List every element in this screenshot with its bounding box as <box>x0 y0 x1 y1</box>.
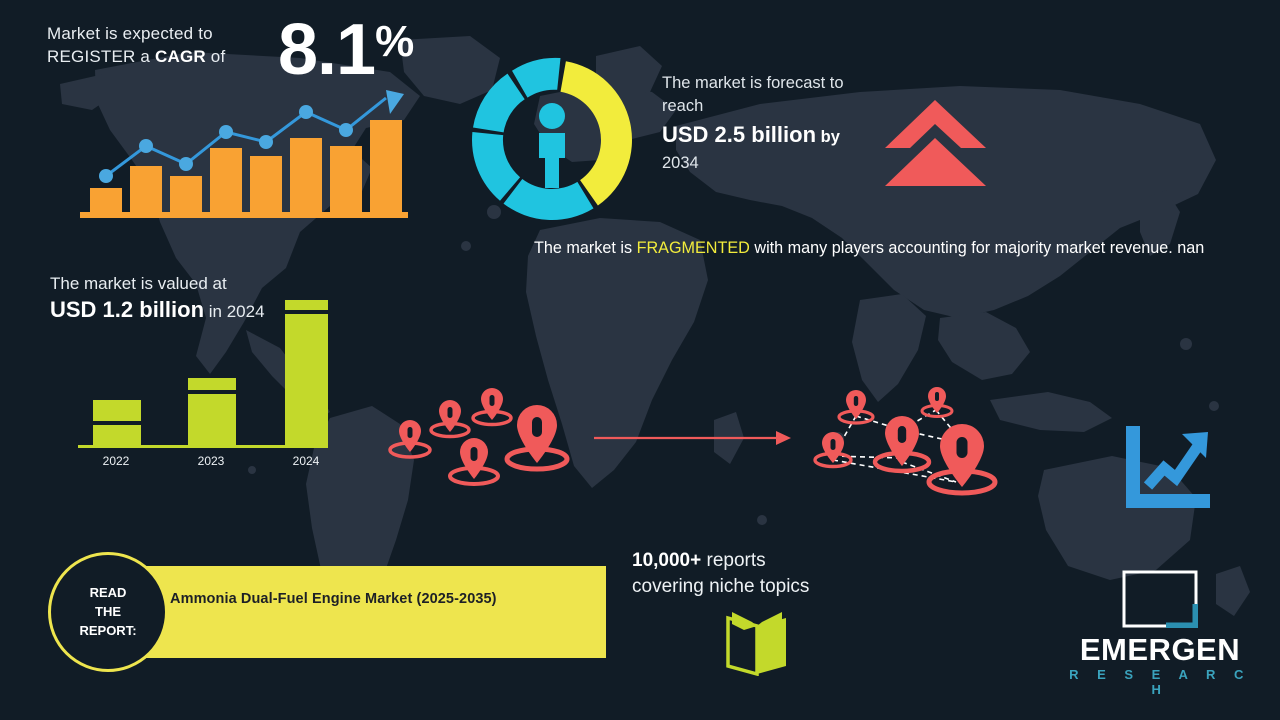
reports-count: 10,000+ <box>632 550 701 571</box>
valuation-value-row: USD 1.2 billion in 2024 <box>50 295 390 327</box>
valuation-value: USD 1.2 billion <box>50 297 204 322</box>
donut-chart-with-person-icon <box>462 55 642 225</box>
cagr-register-text: REGISTER a <box>47 47 155 66</box>
right-arrow-icon <box>592 428 792 448</box>
cagr-percent-sign: % <box>375 17 413 66</box>
reports-line-2: covering niche topics <box>632 574 892 600</box>
cagr-keyword: CAGR <box>155 47 206 66</box>
cagr-value-group: 8.1% <box>278 14 413 86</box>
fragmented-statement: The market is FRAGMENTED with many playe… <box>534 236 1206 260</box>
cagr-value: 8.1 <box>278 10 375 90</box>
fragmented-post: with many players accounting for majorit… <box>750 239 1204 257</box>
cagr-line-1: Market is expected to <box>47 22 225 45</box>
cagr-block: Market is expected to REGISTER a CAGR of… <box>47 22 447 68</box>
logo-wordmark: EMERGEN <box>1060 632 1260 668</box>
read-report-label: READ THE REPORT: <box>48 583 168 640</box>
cagr-line-2: REGISTER a CAGR of <box>47 45 225 68</box>
valuation-year-text: in 2024 <box>204 302 265 321</box>
valuation-line-1: The market is valued at <box>50 272 390 295</box>
fragmented-highlight: FRAGMENTED <box>637 239 750 257</box>
map-pins-cluster-icon <box>382 386 572 496</box>
forecast-line-1: The market is forecast to <box>662 72 922 95</box>
logo-subtitle: R E S E A R C H <box>1060 667 1260 697</box>
bar-2023 <box>188 378 236 445</box>
forecast-by-text: by <box>816 128 840 146</box>
bar-chart-with-trendline-icon <box>72 84 412 224</box>
bar-label-2024: 2024 <box>276 454 336 468</box>
infographic-canvas: Market is expected to REGISTER a CAGR of… <box>0 0 1280 720</box>
double-up-arrow-icon <box>883 98 988 188</box>
square-outline-mark-icon <box>1122 570 1198 628</box>
map-pins-network-icon <box>806 386 1006 501</box>
read-report-line-1: READ <box>48 583 168 602</box>
forecast-value: USD 2.5 billion <box>662 122 816 147</box>
emergen-research-logo: EMERGEN R E S E A R C H <box>1060 570 1260 695</box>
fragmented-pre: The market is <box>534 239 637 257</box>
growth-chart-icon <box>1122 424 1212 512</box>
bar-label-2023: 2023 <box>181 454 241 468</box>
cagr-of-text: of <box>206 47 226 66</box>
open-book-icon <box>722 608 792 676</box>
reports-count-block: 10,000+ reports covering niche topics <box>632 548 892 600</box>
reports-line-1: 10,000+ reports <box>632 548 892 574</box>
valuation-block: The market is valued at USD 1.2 billion … <box>50 272 390 327</box>
bar-label-2022: 2022 <box>86 454 146 468</box>
read-report-line-3: REPORT: <box>48 621 168 640</box>
read-report-banner[interactable]: Ammonia Dual-Fuel Engine Market (2025-20… <box>48 552 563 672</box>
report-title-banner[interactable] <box>106 566 606 658</box>
report-title: Ammonia Dual-Fuel Engine Market (2025-20… <box>170 591 570 607</box>
read-report-line-2: THE <box>48 602 168 621</box>
reports-suffix: reports <box>701 550 765 571</box>
